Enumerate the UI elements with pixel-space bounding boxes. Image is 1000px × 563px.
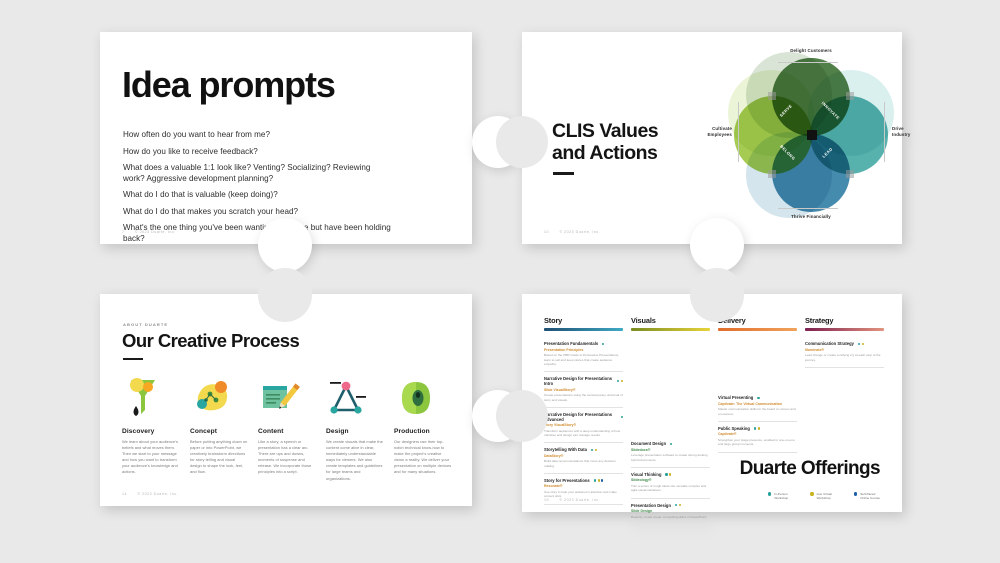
offering-name: Communication Strategy [805,341,854,346]
compass-triangle-icon [326,372,384,420]
puzzle-piece-idea-prompts[interactable]: Idea prompts How often do you want to he… [100,32,472,244]
offering-name: Presentation Fundamentals [544,341,598,346]
offering-desc: Leverage presentation software to create… [631,453,710,462]
legend-item-online: Self-Paced Online Course [854,492,880,500]
process-step: Content Like a story, a speech or presen… [258,372,316,482]
offering-desc: Based on the HBR Guide to Persuasive Pre… [544,353,623,366]
offering-card[interactable]: Virtual Presenting Captivate: The Virtua… [718,391,797,422]
column-accent-bar [631,328,710,331]
process-step: Concept Before putting anything down on … [190,372,248,482]
offering-subtitle: Slide Design [631,509,710,513]
venn-label-right: Drive Industry [892,126,932,137]
puzzle-tab-bottom-p1 [258,218,312,272]
page-number: 10 [544,230,549,234]
offerings-legend: In-Person Workshop Live Virtual Workshop… [768,492,880,500]
page-title: Idea prompts [122,64,335,106]
legend-label: In-Person Workshop [774,492,788,500]
page-number: 7 [122,230,125,234]
list-item: What do I do that is valuable (keep doin… [123,190,391,200]
slide-footer: 10 © 2023 Duarte, Inc. [544,230,600,234]
step-heading: Content [258,428,316,435]
puzzle-notch-top-p3 [258,268,312,322]
offering-desc: Master communication skills for the boar… [718,407,797,416]
puzzle-piece-duarte-offerings[interactable]: Story Presentation Fundamentals Presenta… [522,294,902,512]
offering-desc: Lead change or create a rallying cry at … [805,353,884,362]
column-heading: Story [544,316,623,325]
process-step: Production Our designers use their top-n… [394,372,452,482]
process-step-columns: Discovery We learn about your audience's… [122,372,452,482]
step-heading: Concept [190,428,248,435]
legend-item-inperson: In-Person Workshop [768,492,788,500]
copyright: © 2023 Duarte, Inc. [560,230,601,234]
venn-corner-tl [768,92,776,100]
offering-name: Narrative Design for Presentations Advan… [544,412,617,422]
venn-tick-bottom [778,208,838,209]
slide-footer: 14 © 2023 Duarte, Inc. [122,492,178,496]
page-number: 14 [122,492,127,496]
offering-name: Storytelling With Data [544,447,587,452]
column-heading: Strategy [805,316,884,325]
step-heading: Production [394,428,452,435]
puzzle-piece-creative-process[interactable]: ABOUT DUARTE Our Creative Process Discov… [100,294,472,506]
brain-network-icon [190,372,248,420]
legend-dot-icon [810,492,813,495]
column-accent-bar [544,328,623,331]
mode-dots [602,343,604,345]
page-title: Our Creative Process [122,330,299,352]
puzzle-tab-bottom-p2 [690,218,744,272]
offering-spacer [631,337,710,391]
mode-dots [594,479,604,481]
brand-title: Duarte Offerings [740,458,880,480]
mode-dots [754,427,760,429]
slide-footer: 7 © 2023 Duarte, Inc. [122,230,176,234]
step-body: Before putting anything down on paper or… [190,439,248,476]
offering-name: Visual Thinking [631,472,661,477]
copyright: © 2023 Duarte, Inc. [560,498,601,502]
step-body: Our designers use their top-notch techni… [394,439,452,476]
offering-name: Narrative Design for Presentations Intro [544,376,613,386]
eyebrow-label: ABOUT DUARTE [123,322,168,327]
offering-subtitle: DataStory® [544,454,623,458]
document-pencil-icon [258,372,316,420]
title-rule [123,358,143,360]
list-item: How often do you want to hear from me? [123,130,391,140]
list-item: What does a valuable 1:1 look like? Vent… [123,163,391,184]
copyright: © 2023 Duarte, Inc. [135,230,176,234]
venn-label-bottom: Thrive Financially [756,214,866,220]
offering-subtitle: Story VisualStory® [544,423,623,427]
mode-dots [757,397,759,399]
venn-label-top: Delight Customers [756,48,866,54]
offering-name: Presentation Design [631,503,671,508]
offering-card[interactable]: Narrative Design for Presentations Intro… [544,372,623,408]
step-heading: Design [326,428,384,435]
offering-subtitle: Captivate: The Virtual Communication [718,402,797,406]
offering-desc: Create presentations using the contempor… [544,393,623,402]
offering-card[interactable]: Communication Strategy Illuminate® Lead … [805,337,884,368]
offering-subtitle: Slide VisualStory® [544,388,623,392]
offering-desc: Transform audiences with a deep understa… [544,429,623,438]
offering-card[interactable]: Storytelling With Data DataStory® Build … [544,443,623,474]
mode-dots [665,473,671,475]
list-item: What do I do that makes you scratch your… [123,207,391,217]
puzzle-piece-clis-values[interactable]: CLIS Values and Actions De [522,32,902,244]
offering-card[interactable]: Narrative Design for Presentations Advan… [544,408,623,444]
page-title: CLIS Values and Actions [552,120,658,164]
offering-desc: Turn a series of rough ideas into versat… [631,484,710,493]
offering-card[interactable]: Visual Thinking Slideology® Turn a serie… [631,468,710,499]
offering-spacer [718,337,797,391]
offering-subtitle: Illuminate® [805,348,884,352]
puzzle-notch-left-p4 [496,390,548,442]
venn-corner-bl [768,170,776,178]
offering-card[interactable]: Public Speaking Captivate® Strengthen yo… [718,422,797,453]
offering-subtitle: Captivate® [718,432,797,436]
mode-dots [675,504,681,506]
column-accent-bar [805,328,884,331]
offering-name: Public Speaking [718,426,750,431]
legend-label: Live Virtual Workshop [817,492,832,500]
process-step: Design We create visuals that make the c… [326,372,384,482]
puzzle-canvas: Idea prompts How often do you want to he… [0,0,1000,563]
slide-footer: 19 © 2023 Duarte, Inc. [544,498,600,502]
legend-item-virtual: Live Virtual Workshop [810,492,832,500]
values-venn-diagram: Delight Customers Drive Industry Thrive … [722,46,900,224]
offerings-column-visuals: Visuals Document Design Slidedocs® Lever… [631,316,710,525]
legend-dot-icon [854,492,857,495]
legend-label: Self-Paced Online Course [860,492,880,500]
puzzle-notch-left-p2 [496,116,548,168]
venn-corner-br [846,170,854,178]
offering-subtitle: Resonate® [544,484,623,488]
offering-subtitle: Slideology® [631,478,710,482]
venn-center-square [807,130,817,140]
offering-name: Virtual Presenting [718,395,753,400]
offering-card[interactable]: Document Design Slidedocs® Leverage pres… [631,437,710,468]
offering-desc: Build data recommendations that move any… [544,459,623,468]
copyright: © 2023 Duarte, Inc. [138,492,179,496]
venn-tick-right [884,102,885,162]
computer-mouse-icon [394,372,452,420]
list-item: How do you like to receive feedback? [123,147,391,157]
offering-subtitle: Presentation Principles [544,348,623,352]
offering-card[interactable]: Presentation Fundamentals Presentation P… [544,337,623,372]
mode-dots [617,380,623,382]
venn-tick-top [778,62,838,63]
step-heading: Discovery [122,428,180,435]
title-rule [553,172,574,175]
venn-tick-left [738,102,739,162]
step-body: We create visuals that make the content … [326,439,384,482]
offering-subtitle: Slidedocs® [631,448,710,452]
mode-dots [591,449,597,451]
legend-dot-icon [768,492,771,495]
page-number: 19 [544,498,549,502]
offering-desc: Strengthen your stage presence, enabled … [718,438,797,447]
venn-label-left: Cultivate Employees [688,126,732,137]
column-accent-bar [718,328,797,331]
mode-dots [858,343,864,345]
process-step: Discovery We learn about your audience's… [122,372,180,482]
offering-desc: Beautify, create visual, compelling slid… [631,515,710,519]
step-body: We learn about your audience's beliefs a… [122,439,180,476]
funnel-droplet-icon [122,372,180,420]
puzzle-notch-top-p4 [690,268,744,322]
offering-card[interactable]: Presentation Design Slide Design Beautif… [631,499,710,525]
offerings-column-story: Story Presentation Fundamentals Presenta… [544,316,623,525]
offering-name: Story for Presentations [544,478,590,483]
offering-spacer [631,391,710,437]
step-body: Like a story, a speech or presentation h… [258,439,316,476]
mode-dots [621,416,623,418]
mode-dots [670,443,672,445]
venn-corner-tr [846,92,854,100]
column-heading: Visuals [631,316,710,325]
offering-name: Document Design [631,441,666,446]
